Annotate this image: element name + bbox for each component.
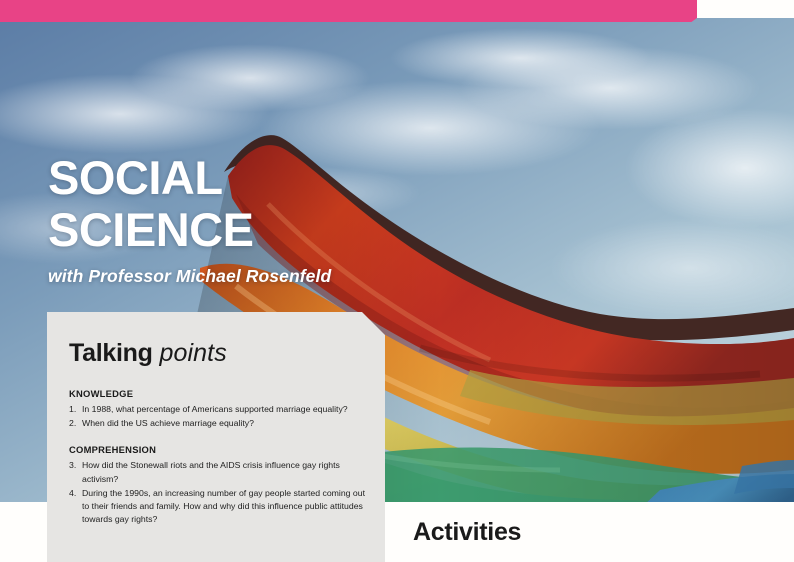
- question-item: 1. In 1988, what percentage of Americans…: [69, 403, 365, 416]
- question-list-comprehension: 3. How did the Stonewall riots and the A…: [69, 459, 365, 526]
- worksheet-page: SOCIAL SCIENCE with Professor Michael Ro…: [0, 0, 794, 562]
- section-title-comprehension: COMPREHENSION: [69, 444, 365, 455]
- section-comprehension: COMPREHENSION 3. How did the Stonewall r…: [69, 444, 365, 526]
- title-line-1: SOCIAL: [48, 152, 331, 204]
- section-title-knowledge: KNOWLEDGE: [69, 388, 365, 399]
- question-text: How did the Stonewall riots and the AIDS…: [82, 460, 340, 483]
- question-text: When did the US achieve marriage equalit…: [82, 418, 254, 428]
- section-knowledge: KNOWLEDGE 1. In 1988, what percentage of…: [69, 388, 365, 430]
- talking-points-heading-bold: Talking: [69, 339, 153, 367]
- question-number: 3.: [69, 459, 76, 472]
- talking-points-card: Talking points KNOWLEDGE 1. In 1988, wha…: [47, 312, 385, 562]
- presenter-subtitle: with Professor Michael Rosenfeld: [48, 266, 331, 287]
- talking-points-heading-light: points: [160, 339, 227, 367]
- talking-points-heading: Talking points: [69, 340, 385, 366]
- question-item: 4. During the 1990s, an increasing numbe…: [69, 487, 365, 527]
- activities-block: Activities: [413, 518, 521, 561]
- question-item: 3. How did the Stonewall riots and the A…: [69, 459, 365, 485]
- title-line-2: SCIENCE: [48, 204, 331, 256]
- activities-teaser-text: [413, 552, 521, 561]
- question-item: 2. When did the US achieve marriage equa…: [69, 417, 365, 430]
- question-text: During the 1990s, an increasing number o…: [82, 488, 365, 524]
- question-number: 2.: [69, 417, 76, 430]
- question-list-knowledge: 1. In 1988, what percentage of Americans…: [69, 403, 365, 430]
- top-accent-bar: [0, 0, 697, 22]
- question-number: 4.: [69, 487, 76, 500]
- activities-heading: Activities: [413, 518, 521, 546]
- question-text: In 1988, what percentage of Americans su…: [82, 404, 348, 414]
- headline-block: SOCIAL SCIENCE with Professor Michael Ro…: [48, 152, 331, 287]
- question-number: 1.: [69, 403, 76, 416]
